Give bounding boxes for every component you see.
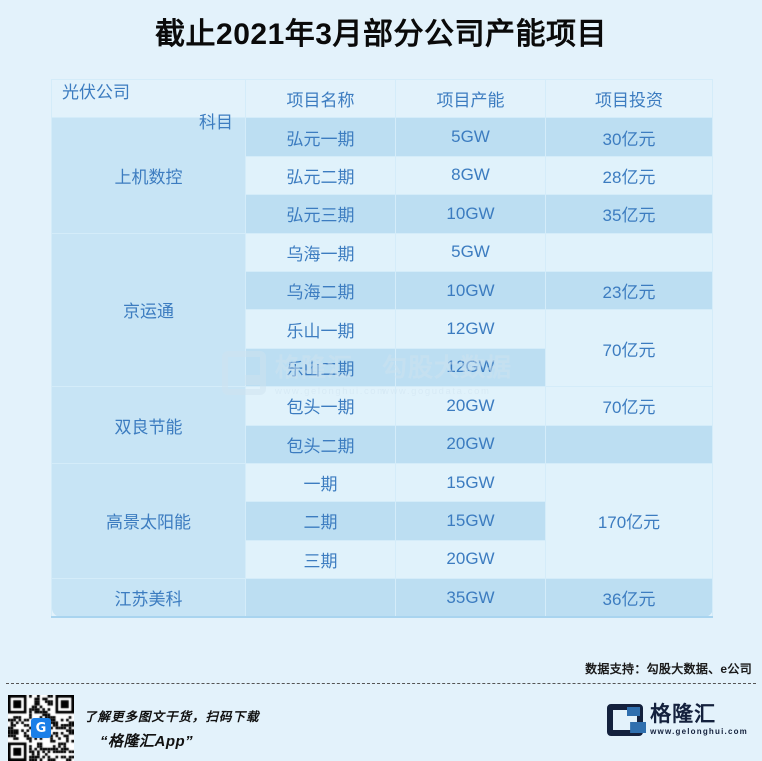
- investment-cell: 30亿元: [546, 118, 713, 156]
- capacity-cell: 35GW: [396, 579, 546, 618]
- project-name-cell: 乌海二期: [246, 271, 396, 309]
- project-name-cell: 三期: [246, 540, 396, 578]
- capacity-cell: 20GW: [396, 425, 546, 463]
- capacity-cell: 8GW: [396, 156, 546, 194]
- project-name-cell: [246, 579, 396, 618]
- capacity-cell: 5GW: [396, 233, 546, 271]
- investment-cell: 23亿元: [546, 271, 713, 309]
- table-header-row: 科目光伏公司项目名称项目产能项目投资: [52, 80, 713, 118]
- footer-cta-line1: 了解更多图文干货，扫码下载: [84, 706, 260, 725]
- project-name-cell: 包头二期: [246, 425, 396, 463]
- table-row: 江苏美科35GW36亿元: [52, 579, 713, 618]
- investment-cell: 28亿元: [546, 156, 713, 194]
- project-name-cell: 乐山二期: [246, 348, 396, 386]
- header-corner-cell: 科目光伏公司: [52, 80, 246, 118]
- capacity-cell: 20GW: [396, 540, 546, 578]
- capacity-cell: 15GW: [396, 463, 546, 501]
- project-name-cell: 二期: [246, 502, 396, 540]
- project-name-cell: 包头一期: [246, 387, 396, 425]
- capacity-cell: 12GW: [396, 310, 546, 348]
- investment-cell: 36亿元: [546, 579, 713, 618]
- project-name-cell: 弘元三期: [246, 195, 396, 233]
- header-capacity: 项目产能: [396, 80, 546, 118]
- investment-cell: 70亿元: [546, 387, 713, 425]
- table-row: 双良节能包头一期20GW70亿元: [52, 387, 713, 425]
- source-note: 数据支持：勾股大数据、e公司: [585, 660, 752, 677]
- project-name-cell: 乐山一期: [246, 310, 396, 348]
- table-row: 京运通乌海一期5GW: [52, 233, 713, 271]
- header-subject-label: 科目: [199, 108, 233, 133]
- capacity-cell: 10GW: [396, 195, 546, 233]
- capacity-table: 科目光伏公司项目名称项目产能项目投资上机数控弘元一期5GW30亿元弘元二期8GW…: [51, 79, 713, 618]
- company-cell: 京运通: [52, 233, 246, 387]
- capacity-cell: 12GW: [396, 348, 546, 386]
- company-cell: 江苏美科: [52, 579, 246, 618]
- investment-cell: 35亿元: [546, 195, 713, 233]
- project-name-cell: 一期: [246, 463, 396, 501]
- brand-logo: 格隆汇 www.gelonghui.com: [607, 704, 748, 736]
- infographic-page: 截止2021年3月部分公司产能项目 科目光伏公司项目名称项目产能项目投资上机数控…: [0, 0, 762, 759]
- header-company-label: 光伏公司: [62, 78, 130, 103]
- table-body: 科目光伏公司项目名称项目产能项目投资上机数控弘元一期5GW30亿元弘元二期8GW…: [52, 80, 713, 618]
- footer-divider: [6, 683, 756, 684]
- qr-logo-icon: G: [31, 718, 51, 738]
- company-cell: 上机数控: [52, 118, 246, 233]
- capacity-cell: 10GW: [396, 271, 546, 309]
- investment-cell: 70亿元: [546, 310, 713, 387]
- gelonghui-logo-icon: [607, 704, 643, 736]
- header-investment: 项目投资: [546, 80, 713, 118]
- investment-cell: 170亿元: [546, 463, 713, 578]
- company-cell: 双良节能: [52, 387, 246, 464]
- project-name-cell: 弘元二期: [246, 156, 396, 194]
- qr-code[interactable]: G: [8, 695, 74, 761]
- capacity-cell: 20GW: [396, 387, 546, 425]
- investment-cell: [546, 425, 713, 463]
- table-row: 高景太阳能一期15GW170亿元: [52, 463, 713, 501]
- table-row: 上机数控弘元一期5GW30亿元: [52, 118, 713, 156]
- footer-cta-line2: “格隆汇App”: [100, 730, 193, 751]
- page-title: 截止2021年3月部分公司产能项目: [0, 14, 762, 56]
- header-project-name: 项目名称: [246, 80, 396, 118]
- project-name-cell: 弘元一期: [246, 118, 396, 156]
- investment-cell: [546, 233, 713, 271]
- capacity-cell: 15GW: [396, 502, 546, 540]
- company-cell: 高景太阳能: [52, 463, 246, 578]
- brand-url: www.gelonghui.com: [650, 728, 748, 736]
- footer: G 了解更多图文干货，扫码下载 “格隆汇App” 格隆汇 www.gelongh…: [0, 690, 762, 759]
- brand-name: 格隆汇: [650, 704, 748, 725]
- capacity-table-container: 科目光伏公司项目名称项目产能项目投资上机数控弘元一期5GW30亿元弘元二期8GW…: [51, 79, 712, 618]
- project-name-cell: 乌海一期: [246, 233, 396, 271]
- capacity-cell: 5GW: [396, 118, 546, 156]
